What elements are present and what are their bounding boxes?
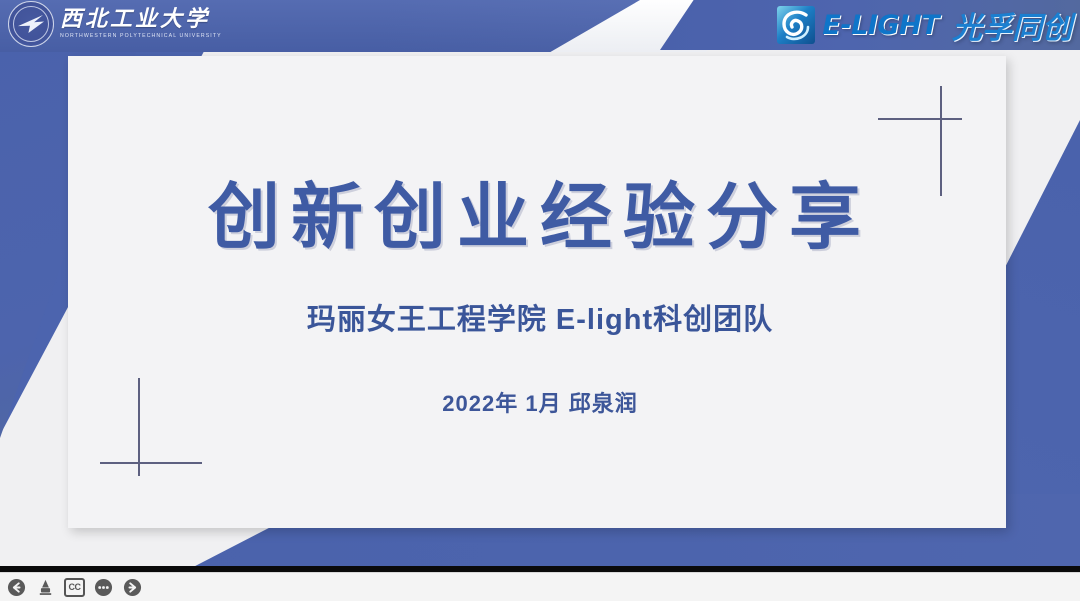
- spiral-swirl-icon: [775, 4, 817, 46]
- back-button[interactable]: [6, 577, 27, 598]
- closed-caption-icon: CC: [64, 578, 85, 597]
- captions-button[interactable]: CC: [64, 577, 85, 598]
- arrow-right-circle-icon: [123, 578, 142, 597]
- slide-content-card: [68, 56, 1006, 528]
- screen: 创新创业经验分享 玛丽女王工程学院 E-light科创团队 2022年 1月 邱…: [0, 0, 1080, 601]
- arrow-left-circle-icon: [7, 578, 26, 597]
- slide-subtitle: 玛丽女王工程学院 E-light科创团队: [0, 296, 1080, 338]
- company-logo: E-LIGHT 光孚同创: [775, 2, 1072, 48]
- slide-viewport[interactable]: 创新创业经验分享 玛丽女王工程学院 E-light科创团队 2022年 1月 邱…: [0, 0, 1080, 572]
- university-name-cn: 西北工业大学: [60, 8, 222, 30]
- university-logo: 西北工业大学 NORTHWESTERN POLYTECHNICAL UNIVER…: [8, 1, 222, 47]
- university-name-en: NORTHWESTERN POLYTECHNICAL UNIVERSITY: [60, 34, 222, 39]
- slide-date-author: 2022年 1月 邱泉润: [0, 386, 1080, 418]
- more-button[interactable]: [93, 577, 114, 598]
- player-control-bar: CC: [0, 572, 1080, 601]
- forward-button[interactable]: [122, 577, 143, 598]
- company-wordmark: E-LIGHT: [822, 10, 939, 41]
- slide-title: 创新创业经验分享: [0, 158, 1080, 263]
- company-name-cn: 光孚同创: [952, 3, 1072, 47]
- university-seal-icon: [8, 1, 54, 47]
- highlighter-pen-icon: [36, 578, 55, 597]
- annotate-button[interactable]: [35, 577, 56, 598]
- ellipsis-circle-icon: [94, 578, 113, 597]
